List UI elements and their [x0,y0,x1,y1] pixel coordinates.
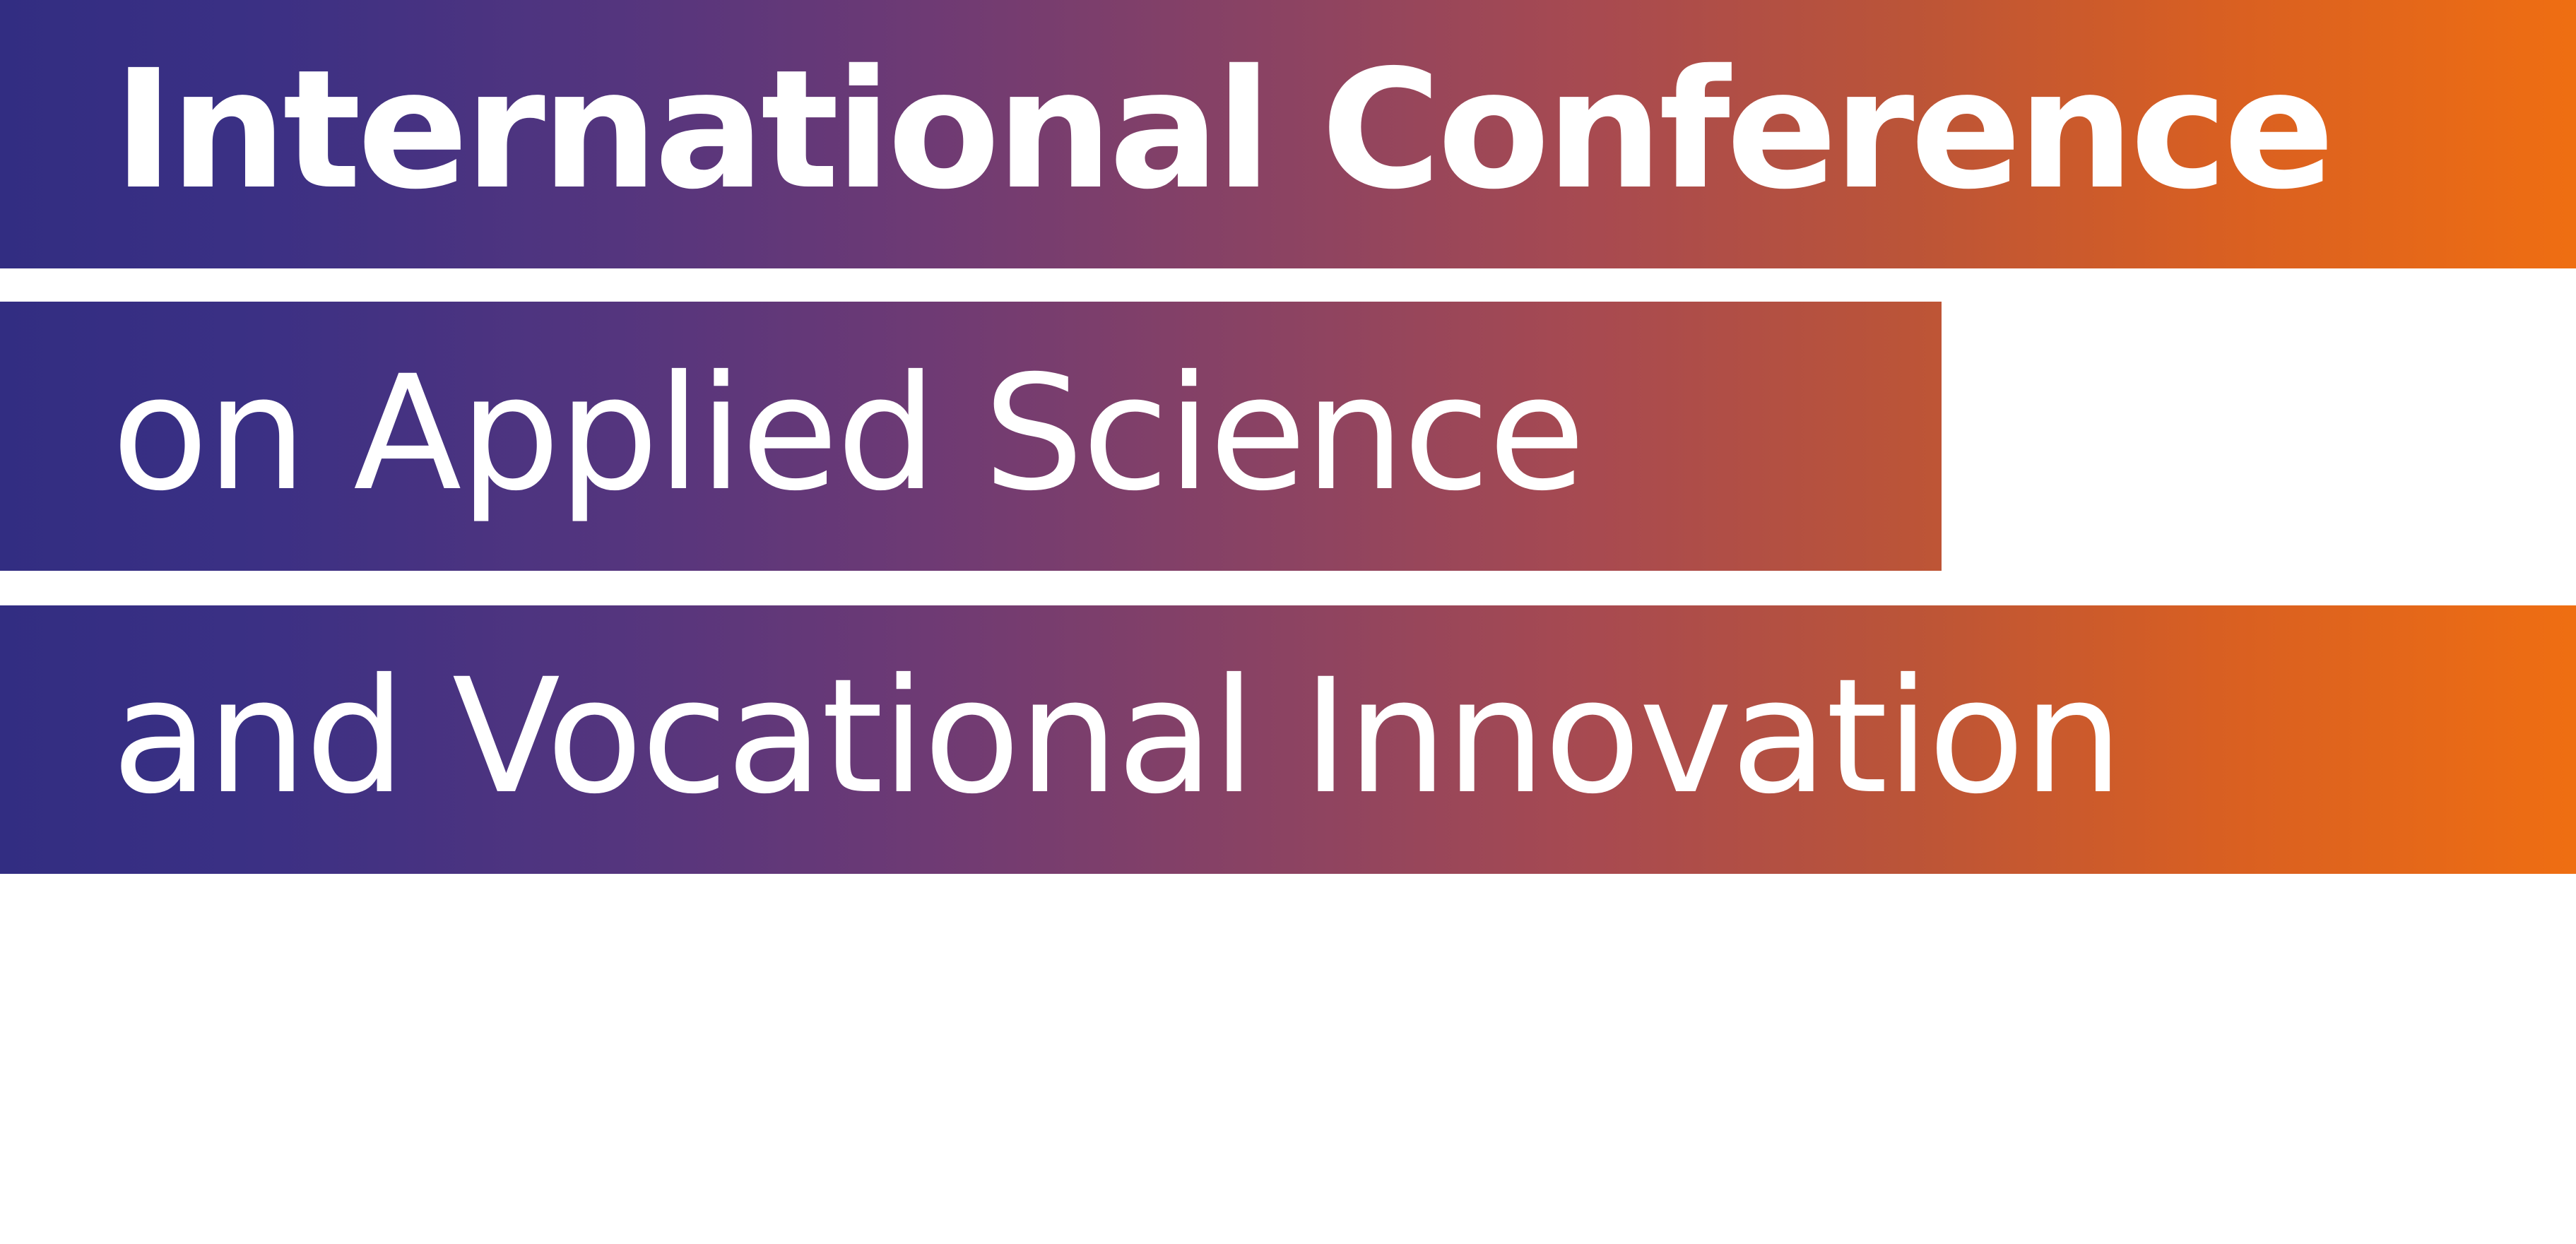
headline-band-3: and Vocational Innovation [0,605,2576,874]
headline-band-1: International Conference [0,0,2576,268]
blank-lower-area [0,874,2576,1244]
headline-band-2: on Applied Science [0,302,1942,571]
banner-canvas: International Conference on Applied Scie… [0,0,2576,1244]
headline-line-3: and Vocational Innovation [112,658,2121,816]
headline-line-1: International Conference [113,48,2331,212]
headline-line-2: on Applied Science [112,355,1583,513]
